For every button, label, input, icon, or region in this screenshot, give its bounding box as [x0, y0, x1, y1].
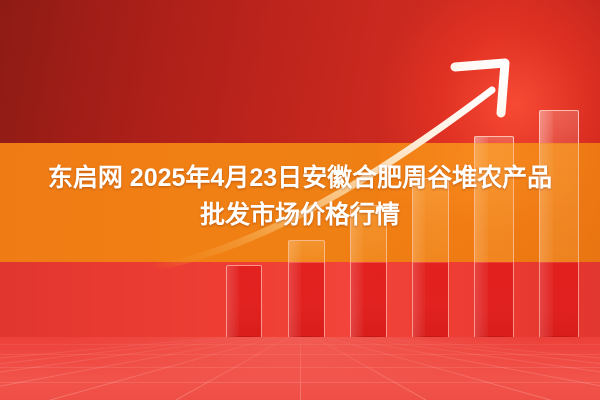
banner-title-line-2: 批发市场价格行情	[0, 197, 600, 234]
floor-grid-line-vertical	[300, 337, 301, 400]
bar-gloss	[289, 241, 301, 262]
bar-2-upper-segment	[288, 240, 325, 262]
background-band-top	[0, 0, 600, 143]
banner-title: 东启网 2025年4月23日安徽合肥周谷堆农产品 批发市场价格行情	[0, 160, 600, 234]
bar-1	[226, 265, 262, 337]
promo-banner: 东启网 2025年4月23日安徽合肥周谷堆农产品 批发市场价格行情	[0, 0, 600, 400]
bar-gloss	[227, 266, 239, 337]
perspective-floor	[0, 337, 600, 400]
banner-title-line-1: 东启网 2025年4月23日安徽合肥周谷堆农产品	[0, 160, 600, 197]
